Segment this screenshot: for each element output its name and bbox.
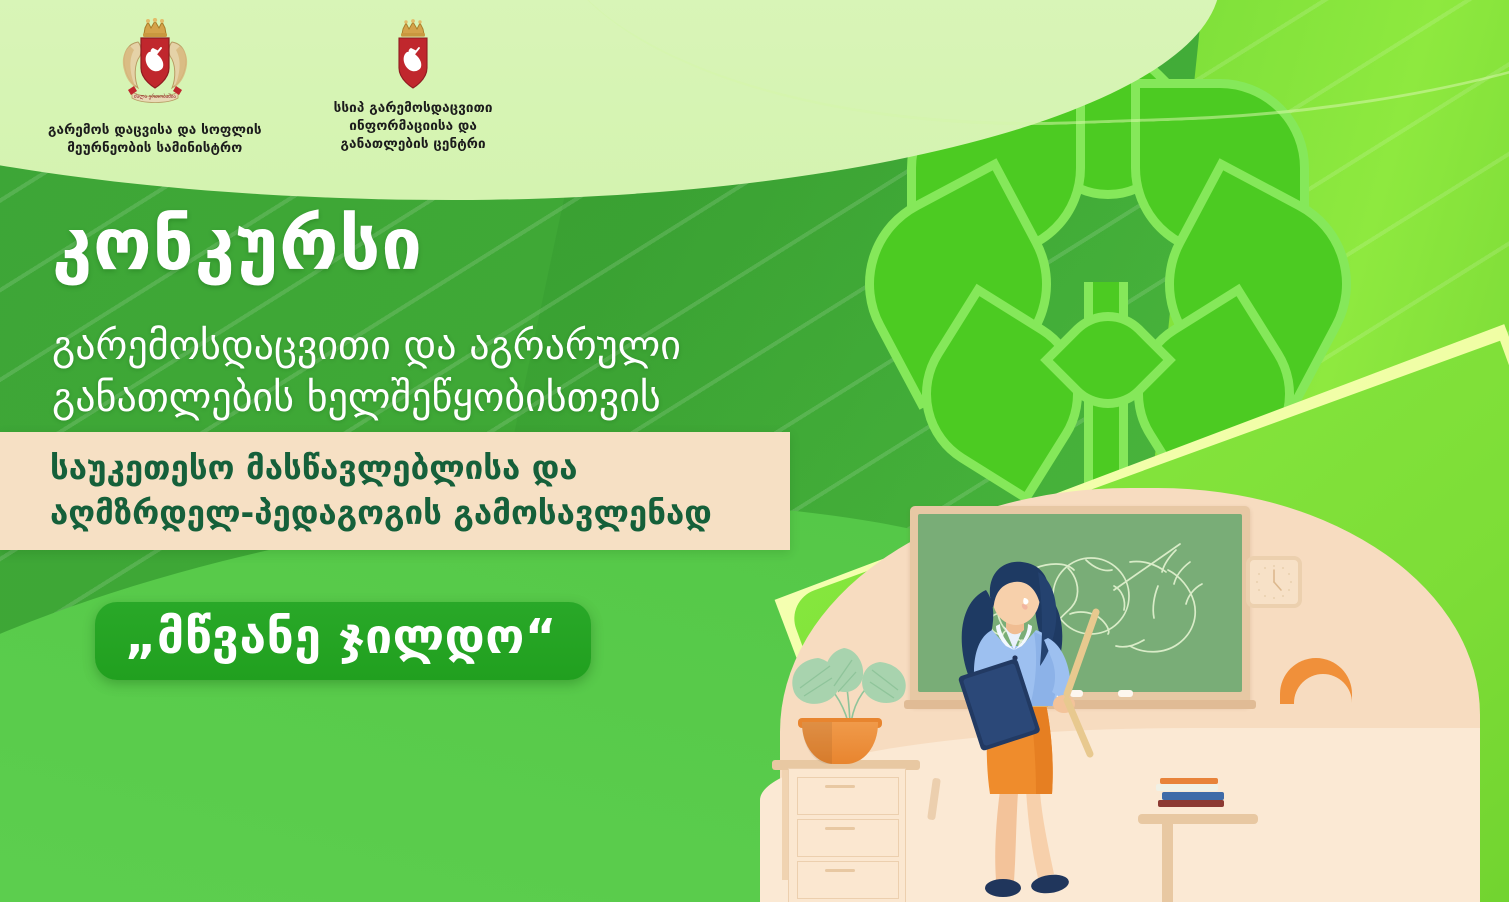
cabinet-drawer [797,819,899,857]
subtitle-line-2: განათლების ხელშეწყობისთვის [52,372,681,424]
center-logo-caption: სსიპ გარემოსდაცვითი ინფორმაციისა და განა… [334,100,493,153]
cabinet-drawer-handle [825,869,855,872]
page-title: კონკურსი [52,208,423,280]
cabinet-drawer-handle [825,827,855,830]
banner-line-1: საუკეთესო მასწავლებლისა და [50,446,790,491]
teacher-figure [930,554,1120,902]
cabinet-drawer [797,861,899,899]
subtitle-line-1: გარემოსდაცვითი და აგრარული [52,320,681,372]
teacher-shoe-left [985,879,1021,897]
georgia-shield-crest-icon [382,18,444,92]
teacher-leg-left [995,790,1018,882]
cabinet-drawer-handle [825,785,855,788]
desk-leg [1162,822,1173,902]
ministry-logo-block: ძალა ერთობაშია გარემოს დაცვისა და სოფლის… [48,18,262,158]
award-name-badge: „მწვანე ჯილდო“ [95,602,591,680]
georgia-coat-of-arms-icon: ძალა ერთობაშია [112,18,198,114]
chalk-piece [1118,690,1133,697]
svg-text:ძალა ერთობაშია: ძალა ერთობაშია [134,93,176,100]
award-name-label: „მწვანე ჯილდო“ [125,612,557,664]
pointer-stick [1067,612,1096,694]
desk-top [1138,814,1258,824]
highlight-banner: საუკეთესო მასწავლებლისა და აღმზრდელ-პედა… [0,432,790,550]
banner-line-2: აღმზრდელ-პედაგოგის გამოსავლენად [50,491,790,536]
book-stack-item [1158,800,1224,807]
book-stack-item [1162,792,1224,800]
teacher-leg-right [1026,790,1054,878]
drawer-cabinet [788,768,906,902]
poster-canvas: ძალა ერთობაშია გარემოს დაცვისა და სოფლის… [0,0,1509,902]
logo-row: ძალა ერთობაშია გარემოს დაცვისა და სოფლის… [48,18,493,158]
teacher-shoe-right [1030,872,1070,895]
subtitle: გარემოსდაცვითი და აგრარული განათლების ხე… [52,320,681,424]
cabinet-drawer [797,777,899,815]
classroom-illustration [760,478,1509,902]
clock-face [1250,560,1298,604]
book-stack-item [1156,784,1218,791]
book-stack-item [1160,778,1218,784]
ministry-logo-caption: გარემოს დაცვისა და სოფლის მეურნეობის სამ… [48,122,262,158]
center-logo-block: სსიპ გარემოსდაცვითი ინფორმაციისა და განა… [334,18,493,158]
wall-clock-icon [1246,556,1302,608]
